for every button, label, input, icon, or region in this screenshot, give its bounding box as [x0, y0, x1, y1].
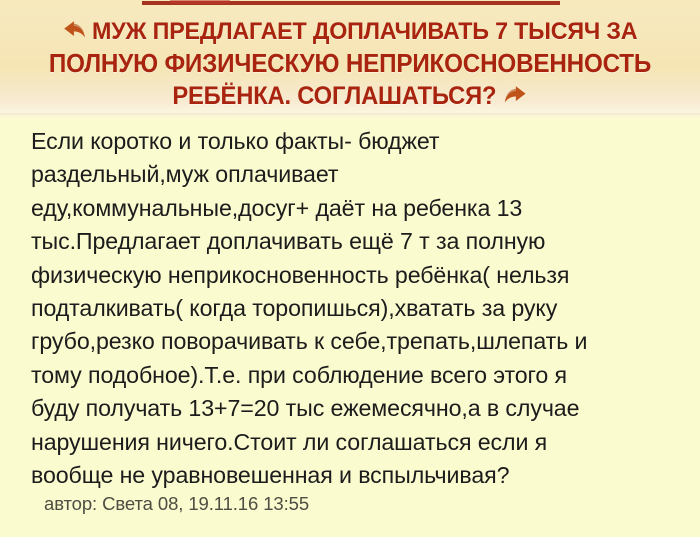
body-line: подталкивать( когда торопишься),хватать …	[31, 292, 678, 325]
post-body-paragraph: Если коротко и только факты- бюджет разд…	[31, 125, 678, 492]
body-line: тому подобное).Т.е. при соблюдение всего…	[31, 359, 678, 392]
body-line: грубо,резко поворачивать к себе,трепать,…	[31, 325, 678, 358]
arrow-curving-right-icon	[503, 83, 528, 107]
body-line: нарушения ничего.Стоит ли соглашаться ес…	[31, 426, 678, 459]
header-line-1-text: МУЖ ПРЕДЛАГАЕТ ДОПЛАЧИВАТЬ 7 ТЫСЯЧ ЗА	[92, 18, 637, 45]
body-line: вообще не уравновешенная и вспыльчивая?	[31, 459, 678, 492]
header-line-2: ПОЛНУЮ ФИЗИЧЕСКУЮ НЕПРИКОСНОВЕННОСТЬ	[23, 48, 677, 80]
body-line: физическую неприкосновенность ребёнка( н…	[31, 259, 678, 292]
header-line-3-text: РЕБЁНКА. СОГЛАШАТЬСЯ?	[172, 82, 496, 110]
post-body: Если коротко и только факты- бюджет разд…	[0, 125, 700, 492]
header-body-divider	[0, 113, 700, 118]
meme-card: МУЖ ПРЕДЛАГАЕТ ДОПЛАЧИВАТЬ 7 ТЫСЯЧ ЗА ПО…	[0, 0, 700, 537]
header-banner: МУЖ ПРЕДЛАГАЕТ ДОПЛАЧИВАТЬ 7 ТЫСЯЧ ЗА ПО…	[0, 9, 700, 113]
post-attribution: автор: Света 08, 19.11.16 13:55	[0, 492, 700, 516]
truncated-headline-sliver	[0, 0, 700, 9]
body-line: буду получать 13+7=20 тыс ежемесячно,а в…	[31, 392, 678, 425]
body-line: еду,коммунальные,досуг+ даёт на ребенка …	[31, 192, 678, 225]
header-line-2-text: ПОЛНУЮ ФИЗИЧЕСКУЮ НЕПРИКОСНОВЕННОСТЬ	[49, 50, 651, 78]
truncated-text-band-highlight	[170, 0, 230, 4]
arrow-curving-left-icon	[63, 18, 88, 42]
body-line: раздельный,муж оплачивает	[31, 158, 678, 191]
header-line-1: МУЖ ПРЕДЛАГАЕТ ДОПЛАЧИВАТЬ 7 ТЫСЯЧ ЗА	[23, 16, 677, 48]
body-line: тыс.Предлагает доплачивать ещё 7 т за по…	[31, 225, 678, 258]
body-line: Если коротко и только факты- бюджет	[31, 125, 678, 158]
header-line-3: РЕБЁНКА. СОГЛАШАТЬСЯ?	[23, 80, 677, 112]
